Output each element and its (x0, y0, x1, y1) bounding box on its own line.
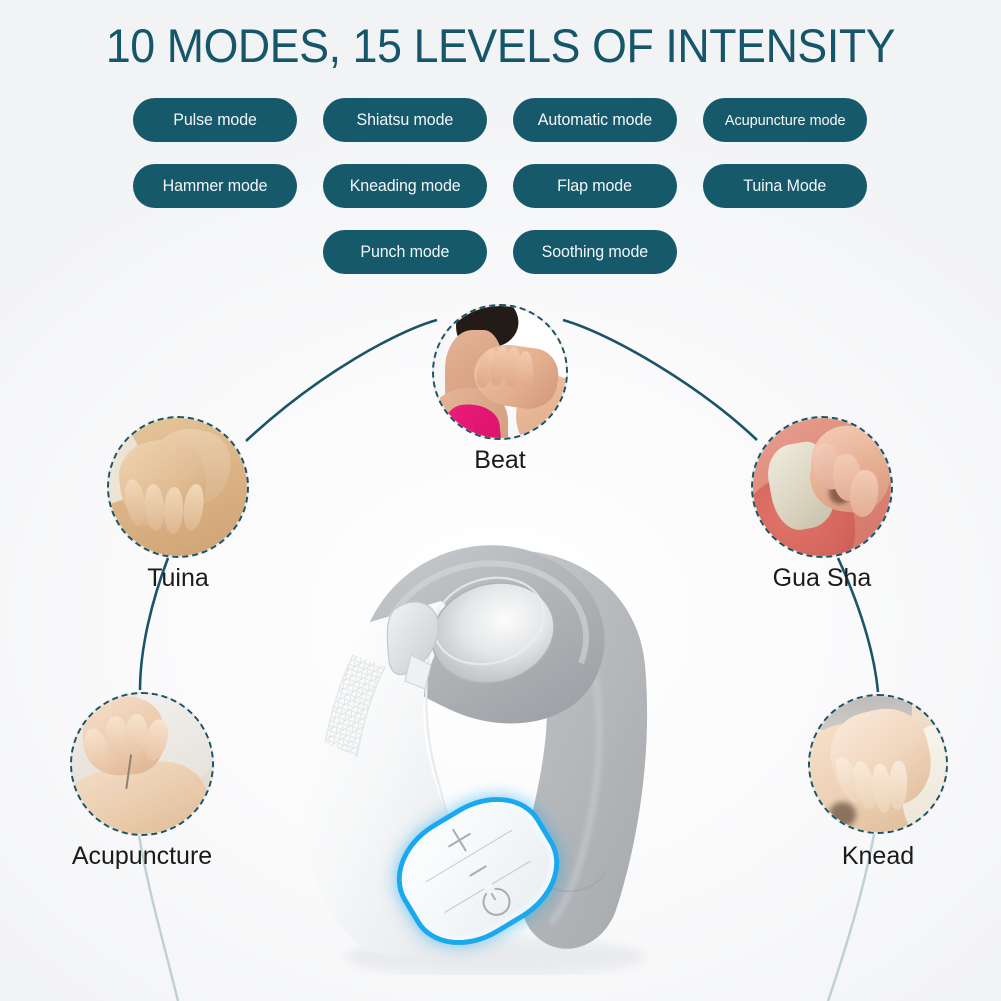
product-infographic: 10 MODES, 15 LEVELS OF INTENSITY Pulse m… (0, 0, 1001, 1001)
page-title: 10 MODES, 15 LEVELS OF INTENSITY (25, 18, 976, 73)
connector-tuina-beat (246, 320, 437, 441)
mode-pill-label: Acupuncture mode (725, 112, 846, 129)
mode-pill-label: Soothing mode (542, 243, 648, 262)
mode-pill-punch[interactable]: Punch mode (323, 230, 487, 274)
technique-label-tuina: Tuina (78, 564, 278, 593)
mode-pill-pulse[interactable]: Pulse mode (133, 98, 297, 142)
mode-pill-label: Automatic mode (538, 111, 652, 130)
mode-pill-label: Punch mode (361, 243, 450, 262)
mode-pill-flap[interactable]: Flap mode (513, 164, 677, 208)
mode-pill-label: Hammer mode (163, 177, 268, 196)
technique-label-beat: Beat (400, 446, 600, 475)
gua-sha-stone-photo (753, 418, 891, 556)
mode-pill-hammer[interactable]: Hammer mode (133, 164, 297, 208)
mode-pill-kneading[interactable]: Kneading mode (323, 164, 487, 208)
mode-pill-label: Tuina Mode (744, 177, 827, 196)
kneading-hands-photo (810, 696, 946, 832)
mode-pill-label: Kneading mode (350, 177, 461, 196)
technique-label-acupuncture: Acupuncture (42, 842, 242, 871)
technique-bubble-beat[interactable] (432, 304, 568, 440)
technique-label-gua-sha: Gua Sha (722, 564, 922, 593)
mode-pill-tuina[interactable]: Tuina Mode (703, 164, 867, 208)
technique-bubble-acupuncture[interactable] (70, 692, 214, 836)
tuina-hands-photo (109, 418, 247, 556)
neck-massage-photo (434, 306, 566, 438)
mode-pill-automatic[interactable]: Automatic mode (513, 98, 677, 142)
acupuncture-needle-photo (72, 694, 212, 834)
mode-pill-label: Flap mode (558, 177, 633, 196)
mode-pill-soothing[interactable]: Soothing mode (513, 230, 677, 274)
mode-pill-acupuncture[interactable]: Acupuncture mode (703, 98, 867, 142)
connector-beat-guasha (563, 320, 757, 440)
mode-pill-label: Pulse mode (173, 111, 257, 130)
mode-pill-shiatsu[interactable]: Shiatsu mode (323, 98, 487, 142)
technique-bubble-gua-sha[interactable] (751, 416, 893, 558)
technique-bubble-tuina[interactable] (107, 416, 249, 558)
technique-label-knead: Knead (778, 842, 978, 871)
technique-bubble-knead[interactable] (808, 694, 948, 834)
mode-pill-label: Shiatsu mode (357, 111, 454, 130)
